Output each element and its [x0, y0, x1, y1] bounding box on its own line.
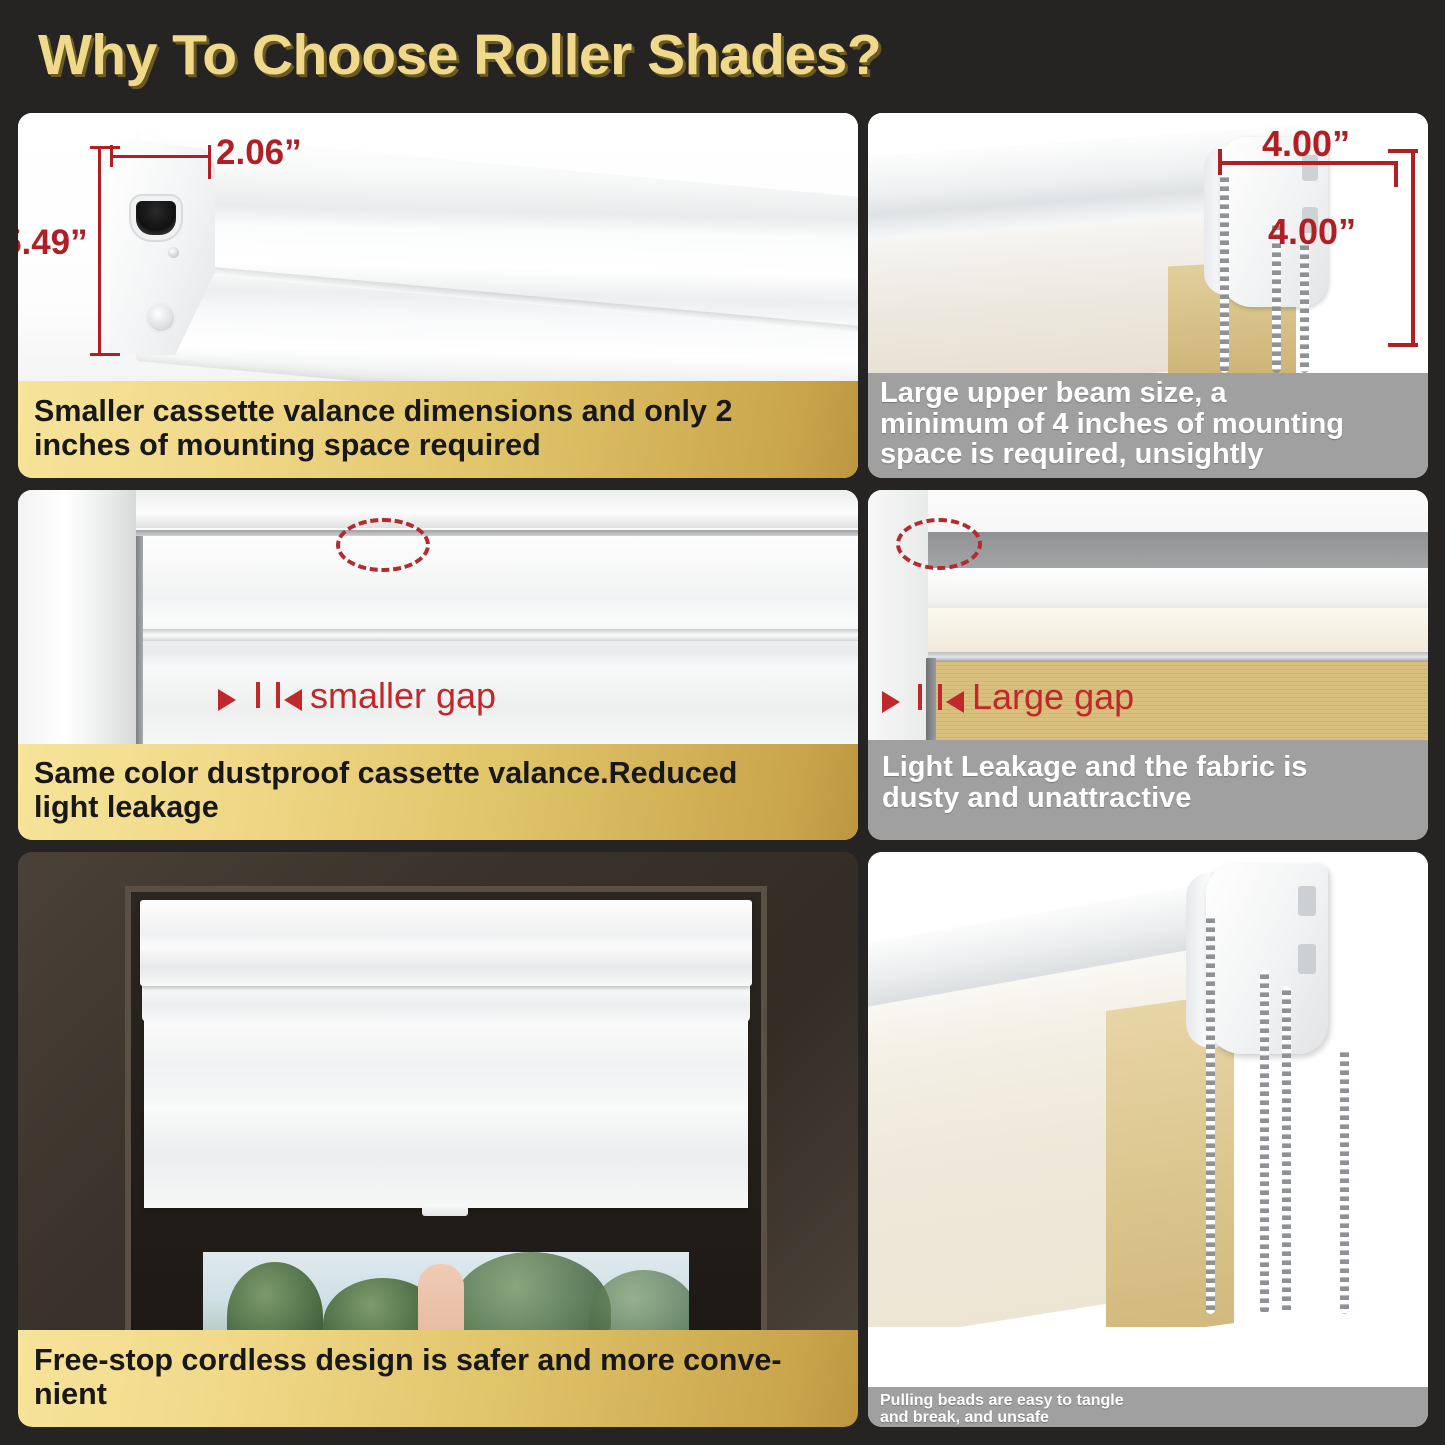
bottom-rail	[928, 652, 1428, 662]
panel-1-caption: Smaller cassette valance dimensions and …	[18, 381, 858, 478]
panel-5-photo	[18, 852, 858, 1330]
tree-shape	[451, 1252, 611, 1330]
panel-3-caption: Same color dustproof cassette valance.Re…	[18, 744, 858, 840]
panel-2-photo: 4.00” 4.00”	[868, 113, 1428, 373]
gap-marker	[938, 684, 942, 710]
caption-line: and break, and unsafe	[880, 1410, 1416, 1427]
gap-arrow-left-icon	[946, 691, 964, 713]
caption-line: light leakage	[34, 791, 842, 825]
beam-height-line	[1411, 151, 1415, 347]
panel-3-photo: smaller gap	[18, 490, 858, 745]
beam-width-label: 4.00”	[1262, 123, 1350, 165]
roller-shade-assembly	[140, 900, 752, 1210]
window-frame-top	[118, 490, 858, 528]
bead-chain	[1220, 173, 1229, 373]
bead-chain	[1300, 241, 1309, 373]
width-tick-right	[208, 145, 211, 179]
caption-line: Pulling beads are easy to tangle	[880, 1393, 1416, 1410]
height-dimension-line	[98, 146, 101, 356]
page-title: Why To Choose Roller Shades?	[38, 22, 1038, 94]
shade-fabric	[144, 1018, 748, 1208]
bead-chain	[1206, 914, 1215, 1314]
gap-marker	[256, 682, 260, 708]
beam-width-tick-left	[1218, 149, 1222, 175]
panel-smaller-gap: smaller gap Same color dustproof cassett…	[18, 490, 858, 840]
panel-6-caption: Pulling beads are easy to tangle and bre…	[868, 1387, 1428, 1427]
hand	[418, 1264, 464, 1330]
beam-height-tick-bottom	[1388, 343, 1418, 347]
window-frame-left	[18, 490, 136, 745]
shade-rail	[140, 629, 858, 641]
panel-cordless-design: Free-stop cordless design is safer and m…	[18, 852, 858, 1427]
gap-arrow-right-icon	[218, 689, 236, 711]
height-tick-top	[90, 146, 120, 149]
caption-line: Large upper beam size, a	[880, 378, 1418, 409]
valance-screw	[146, 303, 176, 333]
caption-line: space is required, unsightly	[880, 439, 1418, 470]
tree-shape	[589, 1270, 689, 1330]
window-glass	[203, 1252, 689, 1330]
valance-screw-small	[168, 247, 179, 258]
valance-slot	[136, 201, 176, 235]
panel-4-caption: Light Leakage and the fabric is dusty an…	[868, 740, 1428, 840]
gap-strip	[926, 658, 936, 740]
height-tick-bottom	[90, 353, 120, 356]
bead-chain	[1340, 1048, 1349, 1314]
height-dimension-label: 5.49”	[18, 223, 88, 263]
panel-large-beam: 4.00” 4.00” Large upper beam size, a min…	[868, 113, 1428, 478]
caption-line: Light Leakage and the fabric is	[882, 752, 1416, 783]
smaller-gap-label: smaller gap	[310, 675, 496, 717]
panel-5-caption: Free-stop cordless design is safer and m…	[18, 1330, 858, 1427]
gap-strip	[136, 536, 143, 745]
gap-arrow-left-icon	[284, 689, 302, 711]
gap-marker	[918, 684, 922, 710]
cassette-shade	[140, 536, 858, 745]
beam-height-tick-top	[1388, 149, 1418, 153]
pull-tab	[422, 1204, 468, 1216]
caption-line: Smaller cassette valance dimensions and …	[34, 395, 842, 429]
large-gap-label: Large gap	[972, 676, 1134, 718]
tree-shape	[227, 1262, 323, 1330]
panel-2-caption: Large upper beam size, a minimum of 4 in…	[868, 373, 1428, 478]
highlight-ellipse-icon	[896, 518, 982, 570]
beam-width-tick-right	[1394, 161, 1398, 187]
caption-line: Same color dustproof cassette valance.Re…	[34, 757, 842, 791]
cassette-valance	[140, 900, 752, 986]
caption-line: minimum of 4 inches of mounting	[880, 409, 1418, 440]
panel-1-photo: 2.06” 5.49”	[18, 113, 858, 381]
panel-smaller-cassette: 2.06” 5.49” Smaller cassette valance dim…	[18, 113, 858, 478]
gap-arrow-right-icon	[882, 691, 900, 713]
panel-large-gap: Large gap Light Leakage and the fabric i…	[868, 490, 1428, 840]
gap-marker	[276, 682, 280, 708]
width-dimension-line	[111, 155, 211, 158]
width-dimension-label: 2.06”	[216, 133, 302, 173]
fabric-roll	[928, 608, 1428, 656]
bead-chain	[1260, 970, 1269, 1314]
panel-pulling-beads: Pulling beads are easy to tangle and bre…	[868, 852, 1428, 1427]
highlight-ellipse-icon	[336, 518, 430, 572]
bead-chain	[1282, 986, 1291, 1314]
caption-line: Free-stop cordless design is safer and m…	[34, 1344, 842, 1378]
beam-height-label: 4.00”	[1268, 211, 1356, 253]
valance-lower-lip	[142, 980, 750, 1022]
valance-shadow-line	[136, 530, 858, 536]
caption-line: nient	[34, 1378, 842, 1412]
caption-line: inches of mounting space required	[34, 429, 842, 463]
panel-6-photo	[868, 852, 1428, 1327]
panel-4-photo: Large gap	[868, 490, 1428, 740]
caption-line: dusty and unattractive	[882, 783, 1416, 814]
